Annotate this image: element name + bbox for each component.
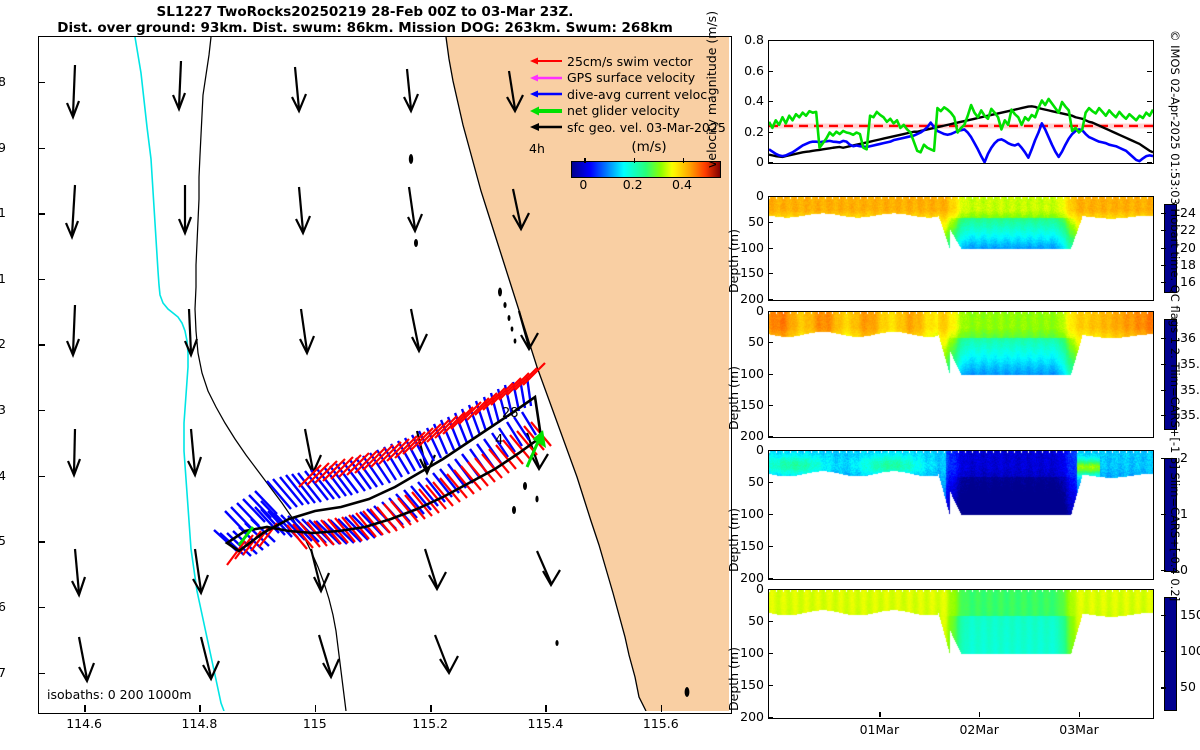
legend-colorbar-tick-label: 0.2 bbox=[613, 177, 653, 192]
oxygen-section-ytick bbox=[768, 653, 773, 654]
gps-surface-velocity-arrow-icon bbox=[529, 72, 563, 84]
velocity-ytick bbox=[1147, 71, 1152, 72]
chla-section-ytick bbox=[768, 578, 773, 579]
salinity-section-ytick-label: 0 bbox=[728, 303, 764, 318]
velocity-ytick bbox=[1147, 101, 1152, 102]
temperature-section-colorbar-tick-label: 16 bbox=[1180, 274, 1196, 289]
temperature-section-colorbar-tick-label: 22 bbox=[1180, 222, 1196, 237]
oxygen-section-data-field bbox=[769, 590, 1153, 718]
time-axis-tick-label: 02Mar bbox=[951, 722, 1007, 737]
map-xtick-label: 115.2 bbox=[400, 716, 460, 731]
isobath-200 bbox=[195, 37, 346, 711]
velocity-ytick-label: 0.2 bbox=[726, 124, 764, 139]
oxygen-section-ytick bbox=[768, 717, 773, 718]
time-axis-tick bbox=[979, 712, 980, 717]
map-ytick-label: 31.3 bbox=[0, 402, 6, 417]
oxygen-section-colorbar-tick bbox=[1161, 651, 1166, 652]
chla-section-ytick-label: 0 bbox=[728, 442, 764, 457]
chla-section-ytick bbox=[768, 514, 773, 515]
temperature-section-ytick bbox=[768, 273, 773, 274]
velocity-timeseries-plot[interactable] bbox=[768, 40, 1154, 164]
chla-section-plot[interactable] bbox=[768, 450, 1154, 580]
legend-colorbar bbox=[571, 161, 721, 178]
temperature-section-colorbar-tick-label: 18 bbox=[1180, 257, 1196, 272]
temperature-section-colorbar-tick-label: 24 bbox=[1180, 205, 1196, 220]
temperature-section-colorbar-tick bbox=[1161, 282, 1166, 283]
salinity-section-ytick bbox=[768, 436, 773, 437]
salinity-section-ytick bbox=[768, 342, 773, 343]
velocity-series-graphics bbox=[769, 41, 1153, 163]
salinity-section-colorbar-tick-label: 35.6 bbox=[1180, 382, 1200, 397]
dive-avg-current-arrow-icon bbox=[529, 88, 563, 100]
temperature-section-plot[interactable] bbox=[768, 196, 1154, 301]
map-xtick-label: 114.6 bbox=[54, 716, 114, 731]
salinity-section-ytick bbox=[768, 374, 773, 375]
isobath-1000 bbox=[135, 37, 224, 711]
map-xtick-label: 114.8 bbox=[169, 716, 229, 731]
legend-item-net-glider-velocity: net glider velocity bbox=[529, 103, 725, 120]
temperature-section-ytick bbox=[768, 222, 773, 223]
salinity-section-ytick-label: 200 bbox=[728, 428, 764, 443]
legend-label-gps-surface-velocity: GPS surface velocity bbox=[563, 70, 695, 85]
velocity-ytick bbox=[1147, 162, 1152, 163]
chla-section-colorbar-tick bbox=[1161, 458, 1166, 459]
salinity-section-colorbar-tick bbox=[1161, 415, 1166, 416]
time-axis-tick-label: 01Mar bbox=[851, 722, 907, 737]
legend-item-dive-avg-current: dive-avg current veloc. bbox=[529, 86, 725, 103]
map-ytick-label: 31.6 bbox=[0, 599, 6, 614]
credit-text: © IMOS 02-Apr-2025 01:53:03 Hobart time.… bbox=[1168, 30, 1182, 601]
salinity-section-colorbar-tick bbox=[1161, 364, 1166, 365]
legend-colorbar-tick bbox=[683, 158, 684, 163]
swim-vector-arrow-icon bbox=[529, 55, 563, 67]
velocity-ytick bbox=[768, 162, 773, 163]
oxygen-section-ytick bbox=[768, 621, 773, 622]
salinity-section-ytick bbox=[768, 405, 773, 406]
velocity-ytick bbox=[768, 71, 773, 72]
chla-section-data-field bbox=[769, 451, 1153, 579]
page-title: SL1227 TwoRocks20250219 28-Feb 00Z to 03… bbox=[0, 4, 730, 36]
oxygen-section-colorbar-tick bbox=[1161, 615, 1166, 616]
salinity-section-ytick-label: 50 bbox=[728, 334, 764, 349]
salinity-section-colorbar-tick-label: 36 bbox=[1180, 330, 1196, 345]
map-ytick-label: 30.8 bbox=[0, 74, 6, 89]
temperature-section-colorbar-tick bbox=[1161, 265, 1166, 266]
oxygen-section-ytick-label: 0 bbox=[728, 581, 764, 596]
salinity-section-data-field bbox=[769, 312, 1153, 437]
oxygen-section-ytick bbox=[768, 685, 773, 686]
temperature-section-ytick bbox=[768, 299, 773, 300]
salinity-section-plot[interactable] bbox=[768, 311, 1154, 438]
salinity-section-colorbar-tick bbox=[1161, 390, 1166, 391]
temperature-section-ytick bbox=[768, 196, 773, 197]
title-line-1: SL1227 TwoRocks20250219 28-Feb 00Z to 03… bbox=[0, 4, 730, 20]
legend-item-swim-vector: 25cm/s swim vector bbox=[529, 53, 725, 70]
map-ytick-label: 31.1 bbox=[0, 271, 6, 286]
chla-section-ytick-label: 50 bbox=[728, 474, 764, 489]
chla-section-ytick-label: 100 bbox=[728, 506, 764, 521]
chla-section-ytick bbox=[768, 450, 773, 451]
chla-section-ytick-label: 150 bbox=[728, 538, 764, 553]
legend-colorbar-tick bbox=[634, 158, 635, 163]
oxygen-section-plot[interactable] bbox=[768, 589, 1154, 719]
legend-label-net-glider-velocity: net glider velocity bbox=[563, 103, 680, 118]
velocity-ytick bbox=[768, 40, 773, 41]
salinity-section-ytick-label: 100 bbox=[728, 366, 764, 381]
legend-label-swim-vector: 25cm/s swim vector bbox=[563, 54, 693, 69]
timeseries-section-panels: velocity magnitude (m/s)00.20.40.60.8Dep… bbox=[742, 0, 1200, 750]
isobaths-note: isobaths: 0 200 1000m bbox=[47, 687, 192, 702]
map-ytick-label: 31.7 bbox=[0, 665, 6, 680]
oxygen-section-ytick-label: 50 bbox=[728, 613, 764, 628]
velocity-ytick bbox=[768, 101, 773, 102]
net-glider-velocity-arrow-icon bbox=[529, 105, 563, 117]
velocity-ytick bbox=[768, 132, 773, 133]
velocity-ytick-label: 0 bbox=[726, 154, 764, 169]
legend-item-gps-surface-velocity: GPS surface velocity bbox=[529, 70, 725, 87]
map-ytick-label: 31.5 bbox=[0, 533, 6, 548]
temperature-section-ytick bbox=[768, 248, 773, 249]
salinity-section-colorbar-tick-label: 35.4 bbox=[1180, 407, 1200, 422]
oxygen-section-ytick-label: 200 bbox=[728, 709, 764, 724]
time-axis-tick bbox=[879, 712, 880, 717]
map-ytick-label: 31.4 bbox=[0, 468, 6, 483]
map-ytick-label: 31.2 bbox=[0, 336, 6, 351]
map-ytick-label: -31 bbox=[0, 205, 6, 220]
velocity-ylabel: velocity magnitude (m/s) bbox=[704, 11, 719, 168]
map-ytick-label: 30.9 bbox=[0, 140, 6, 155]
legend-item-sfc-geo-velocity: sfc geo. vel. 03-Mar-2025 bbox=[529, 119, 725, 136]
velocity-ytick-label: 0.8 bbox=[726, 32, 764, 47]
map-xtick-label: 115 bbox=[285, 716, 345, 731]
legend-interval-label: 4h bbox=[529, 141, 545, 156]
map-legend: 25cm/s swim vector GPS surface velocity … bbox=[529, 53, 725, 136]
oxygen-section-ytick-label: 150 bbox=[728, 677, 764, 692]
temperature-section-colorbar-tick bbox=[1161, 230, 1166, 231]
oxygen-section-colorbar-tick-label: 150 bbox=[1180, 607, 1200, 622]
velocity-ytick-label: 0.4 bbox=[726, 93, 764, 108]
salinity-section-colorbar-tick bbox=[1161, 338, 1166, 339]
legend-colorbar-tick-label: 0 bbox=[563, 177, 603, 192]
oxygen-section-colorbar-tick-label: 100 bbox=[1180, 643, 1200, 658]
salinity-section-ytick bbox=[768, 311, 773, 312]
glider-track-map[interactable]: isobaths: 0 200 1000m 25cm/s swim vector… bbox=[38, 36, 732, 714]
time-axis-tick-label: 03Mar bbox=[1051, 722, 1107, 737]
oxygen-section-colorbar-tick bbox=[1161, 687, 1166, 688]
legend-label-dive-avg-current: dive-avg current veloc. bbox=[563, 87, 711, 102]
chla-section-ytick bbox=[768, 482, 773, 483]
temperature-section-colorbar-tick bbox=[1161, 248, 1166, 249]
chla-section-ytick bbox=[768, 546, 773, 547]
temperature-section-ytick-label: 50 bbox=[728, 214, 764, 229]
title-line-2: Dist. over ground: 93km. Dist. swum: 86k… bbox=[0, 20, 730, 36]
temperature-section-colorbar-tick-label: 20 bbox=[1180, 240, 1196, 255]
oxygen-section-ytick bbox=[768, 589, 773, 590]
sfc-geo-velocity-arrow-icon bbox=[529, 121, 563, 133]
temperature-section-ytick-label: 100 bbox=[728, 240, 764, 255]
salinity-section-colorbar-tick-label: 35.8 bbox=[1180, 356, 1200, 371]
legend-colorbar-tick bbox=[584, 158, 585, 163]
temperature-section-data-field bbox=[769, 197, 1153, 300]
velocity-ytick bbox=[1147, 132, 1152, 133]
legend-label-sfc-geo-velocity: sfc geo. vel. 03-Mar-2025 bbox=[563, 120, 726, 135]
temperature-section-colorbar-tick bbox=[1161, 213, 1166, 214]
temperature-section-ytick-label: 0 bbox=[728, 188, 764, 203]
oxygen-section-ytick-label: 100 bbox=[728, 645, 764, 660]
temperature-section-ytick-label: 150 bbox=[728, 265, 764, 280]
oxygen-section-colorbar-tick-label: 50 bbox=[1180, 679, 1196, 694]
salinity-section-ytick-label: 150 bbox=[728, 397, 764, 412]
legend-colorbar-tick-label: 0.4 bbox=[662, 177, 702, 192]
chla-section-colorbar-tick bbox=[1161, 570, 1166, 571]
velocity-ytick-label: 0.6 bbox=[726, 63, 764, 78]
map-xtick-label: 115.6 bbox=[631, 716, 691, 731]
map-xtick-label: 115.4 bbox=[515, 716, 575, 731]
chla-section-colorbar-tick bbox=[1161, 514, 1166, 515]
time-axis-tick bbox=[1079, 712, 1080, 717]
velocity-ytick bbox=[1147, 40, 1152, 41]
